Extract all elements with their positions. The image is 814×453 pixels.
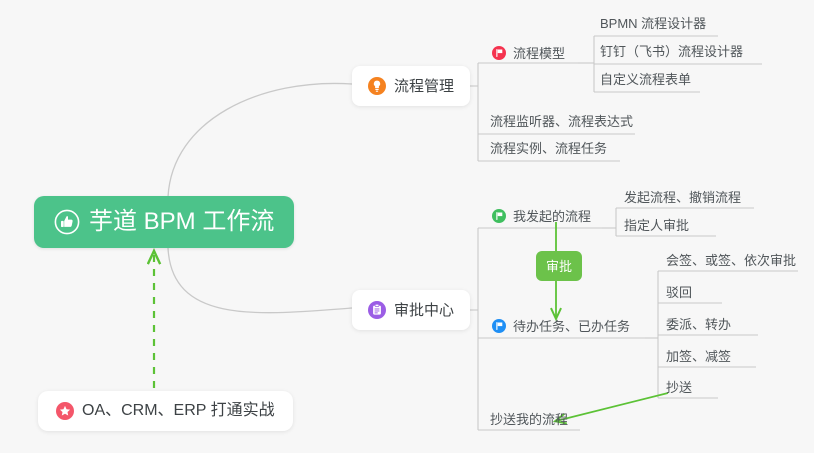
node-label: 流程模型	[513, 47, 565, 60]
node-label: 会签、或签、依次审批	[666, 254, 796, 267]
mindmap-canvas: 芋道 BPM 工作流 流程管理 流程模型 BPMN 流程设计器 钉钉（飞书）流程	[0, 0, 814, 453]
node-todo-done-tasks[interactable]: 待办任务、已办任务	[492, 315, 630, 337]
bottom-node-label: OA、CRM、ERP 打通实战	[82, 403, 275, 419]
root-label: 芋道 BPM 工作流	[89, 210, 274, 234]
node-label: 抄送我的流程	[490, 413, 568, 426]
root-node[interactable]: 芋道 BPM 工作流	[34, 196, 294, 248]
node-cc[interactable]: 抄送	[666, 376, 692, 398]
node-label: 加签、减签	[666, 350, 731, 363]
node-delegate-transfer[interactable]: 委派、转办	[666, 313, 731, 335]
connector-root-to-approval-center	[168, 248, 352, 313]
node-label: 驳回	[666, 286, 692, 299]
node-label: 抄送	[666, 381, 692, 394]
node-custom-process-form[interactable]: 自定义流程表单	[600, 68, 691, 90]
node-assignee-approval[interactable]: 指定人审批	[624, 214, 689, 236]
branch-label: 审批中心	[394, 303, 454, 318]
node-label: 委派、转办	[666, 318, 731, 331]
branch-approval-center[interactable]: 审批中心	[352, 290, 470, 330]
node-label: BPMN 流程设计器	[600, 17, 706, 30]
node-label: 流程监听器、流程表达式	[490, 115, 633, 128]
node-label: 钉钉（飞书）流程设计器	[600, 45, 743, 58]
node-process-model[interactable]: 流程模型	[492, 42, 565, 64]
flag-green-icon	[492, 209, 506, 223]
node-my-initiated-process[interactable]: 我发起的流程	[492, 205, 591, 227]
node-cc-to-me-process[interactable]: 抄送我的流程	[490, 408, 568, 430]
approval-tag[interactable]: 审批	[536, 251, 582, 281]
node-countersign-orsign-sequential[interactable]: 会签、或签、依次审批	[666, 249, 796, 271]
node-label: 流程实例、流程任务	[490, 142, 607, 155]
thumbs-up-icon	[54, 209, 80, 235]
arrow-cc-to-my-process	[556, 393, 668, 421]
star-icon	[56, 402, 74, 420]
node-label: 我发起的流程	[513, 210, 591, 223]
node-process-listener-expression[interactable]: 流程监听器、流程表达式	[490, 110, 633, 132]
bottom-node-oa-crm-erp[interactable]: OA、CRM、ERP 打通实战	[38, 391, 293, 431]
node-label: 自定义流程表单	[600, 73, 691, 86]
node-start-cancel-process[interactable]: 发起流程、撤销流程	[624, 186, 741, 208]
node-label: 发起流程、撤销流程	[624, 191, 741, 204]
node-process-instance-task[interactable]: 流程实例、流程任务	[490, 137, 607, 159]
tag-label: 审批	[546, 260, 572, 273]
clipboard-icon	[368, 301, 386, 319]
node-label: 指定人审批	[624, 219, 689, 232]
flag-blue-icon	[492, 319, 506, 333]
node-reject[interactable]: 驳回	[666, 281, 692, 303]
branch-label: 流程管理	[394, 79, 454, 94]
node-label: 待办任务、已办任务	[513, 320, 630, 333]
branch-process-management[interactable]: 流程管理	[352, 66, 470, 106]
node-dingtalk-feishu-designer[interactable]: 钉钉（飞书）流程设计器	[600, 40, 743, 62]
lightbulb-icon	[368, 77, 386, 95]
flag-red-icon	[492, 46, 506, 60]
node-bpmn-designer[interactable]: BPMN 流程设计器	[600, 12, 706, 34]
connector-root-to-process-management	[168, 83, 352, 197]
node-add-remove-sign[interactable]: 加签、减签	[666, 345, 731, 367]
